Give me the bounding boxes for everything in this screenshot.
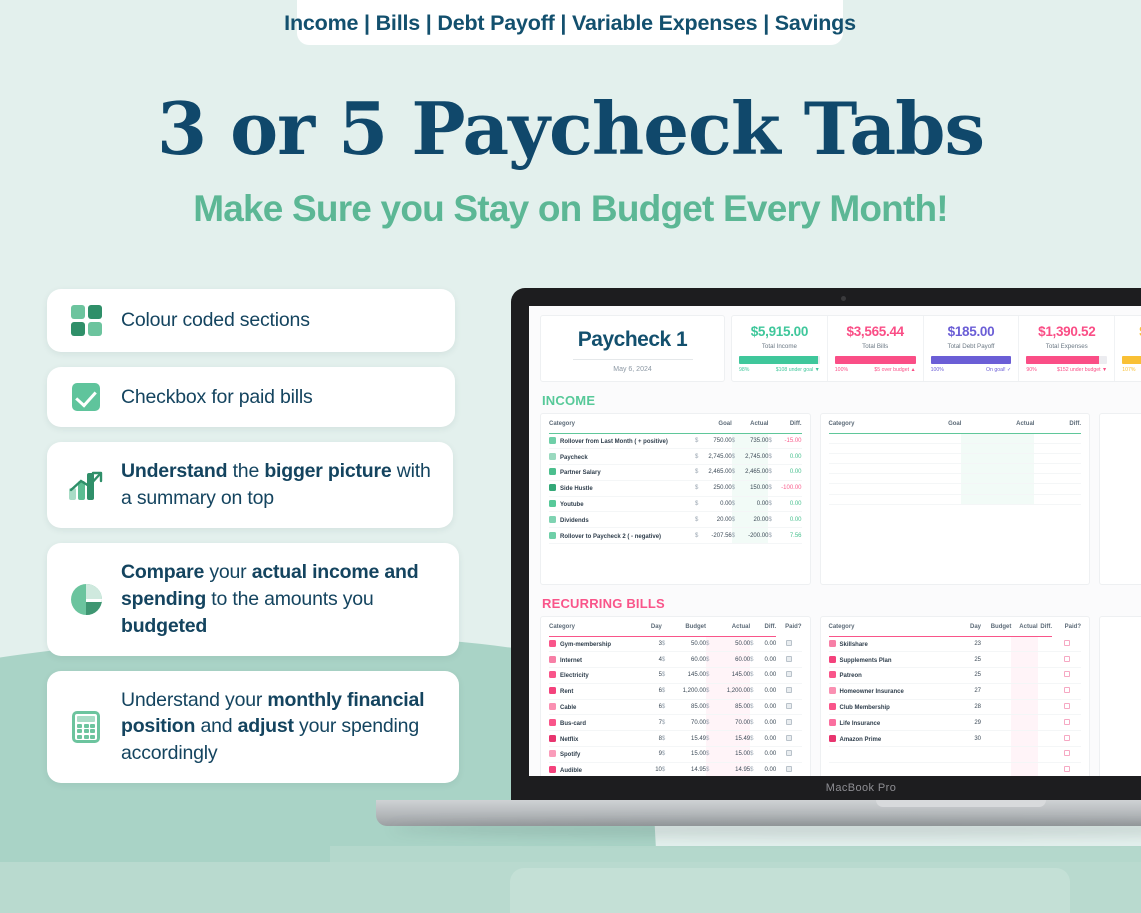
cell-diff: 0.00 (758, 636, 776, 652)
cell-actual (1019, 668, 1037, 684)
kpi-percent: 107% (1122, 367, 1135, 373)
cell-actual: 145.00 (714, 668, 750, 684)
kpi-card: $1,390.52Total Expenses90%$152 under bud… (1019, 316, 1115, 381)
cell-diff: 0.00 (758, 668, 776, 684)
feature-card-list: Colour coded sections Checkbox for paid … (47, 289, 467, 798)
page-subtitle: Make Sure you Stay on Budget Every Month… (0, 188, 1141, 230)
feature-card: Colour coded sections (47, 289, 455, 352)
cell-budget: 50.00 (670, 636, 706, 652)
cell-day: 25 (962, 652, 981, 668)
kpi-card: $5,915.00Total Income98%$108 under goal … (732, 316, 828, 381)
income-table-panel-2: CategoryGoalActualDiff. (820, 413, 1091, 585)
cell-diff: -100.00 (776, 480, 801, 496)
bills-table-left: CategoryDayBudgetActualDiff.Paid? Gym-me… (549, 624, 802, 776)
cell-category: Audible (549, 762, 645, 776)
kpi-list: $5,915.00Total Income98%$108 under goal … (731, 315, 1141, 382)
table-row[interactable] (829, 464, 1082, 474)
cell-paid-checkbox[interactable] (1052, 683, 1081, 699)
column-header: Paid? (1052, 624, 1081, 635)
table-row[interactable] (829, 494, 1082, 504)
column-header: Category (549, 624, 645, 635)
cell-actual: 70.00 (714, 715, 750, 731)
cell-day: 8 (645, 731, 662, 747)
cell-budget: 1,200.00 (670, 683, 706, 699)
cell-category: Gym-membership (549, 636, 645, 652)
column-header: Actual (732, 421, 769, 432)
table-row[interactable] (829, 443, 1082, 453)
table-row[interactable] (829, 746, 1082, 762)
cell-budget (989, 683, 1011, 699)
table-row[interactable]: Rollover from Last Month ( + positive)$7… (549, 433, 802, 449)
kpi-card: $774.00Total Savings107%$49 over goal ▲ (1115, 316, 1141, 381)
cell-actual: 2,745.00 (740, 449, 769, 465)
table-row[interactable] (829, 762, 1082, 776)
table-row[interactable]: Rollover to Paycheck 2 ( - negative)$-20… (549, 528, 802, 544)
bills-table-right: CategoryDayBudgetActualDiff.Paid? Skills… (829, 624, 1082, 776)
kpi-percent: 100% (835, 367, 848, 373)
paycheck-card: Paycheck 1 May 6, 2024 (540, 315, 725, 382)
column-header: Day (645, 624, 662, 635)
column-header: Diff. (768, 421, 801, 432)
cell-day: 25 (962, 668, 981, 684)
section-header-bills: RECURRING BILLS (542, 596, 1141, 611)
cell-budget (989, 699, 1011, 715)
cell-goal: 250.00 (703, 480, 732, 496)
column-header: Actual (1011, 624, 1037, 635)
kpi-percent: 100% (931, 367, 944, 373)
kpi-note: $152 under budget ▼ (1057, 367, 1107, 373)
cell-budget (989, 731, 1011, 747)
paycheck-title: Paycheck 1 (541, 328, 724, 352)
cell-category: Dividends (549, 512, 695, 528)
table-row[interactable]: Paycheck$2,745.00$2,745.00$0.00 (549, 449, 802, 465)
cell-paid-checkbox[interactable] (1052, 731, 1081, 747)
kpi-progress-bar (1122, 356, 1141, 364)
cell-paid-checkbox[interactable] (776, 699, 801, 715)
table-row[interactable] (829, 453, 1082, 463)
cell-actual: 15.49 (714, 731, 750, 747)
table-row[interactable] (829, 433, 1082, 443)
cell-actual (1019, 715, 1037, 731)
cell-diff: 0.00 (776, 449, 801, 465)
cell-category: Rollover to Paycheck 2 ( - negative) (549, 528, 695, 544)
cell-diff: 0.00 (758, 652, 776, 668)
cell-actual: 85.00 (714, 699, 750, 715)
feature-card: Understand the bigger picture with a sum… (47, 442, 453, 528)
cell-paid-checkbox[interactable] (776, 636, 801, 652)
kpi-note: $5 over budget ▲ (874, 367, 915, 373)
camera-icon (841, 296, 846, 301)
feature-card: Understand your monthly financial positi… (47, 671, 459, 784)
checkbox-icon (65, 383, 107, 411)
laptop-mockup: Paycheck 1 May 6, 2024 $5,915.00Total In… (511, 288, 1141, 818)
cell-category: Youtube (549, 496, 695, 512)
column-header: Actual (961, 421, 1034, 432)
kpi-percent: 90% (1026, 367, 1036, 373)
cell-actual: 20.00 (740, 512, 769, 528)
background-soft-rect (510, 868, 1070, 913)
cell-actual (1019, 636, 1037, 652)
cell-budget (989, 636, 1011, 652)
laptop-bezel: Paycheck 1 May 6, 2024 $5,915.00Total In… (511, 288, 1141, 800)
cell-paid-checkbox[interactable] (776, 652, 801, 668)
cell-actual (1019, 699, 1037, 715)
kpi-note: $108 under goal ▼ (776, 367, 820, 373)
kpi-label: Total Debt Payoff (947, 343, 994, 350)
table-row[interactable]: Club Membership28 (829, 699, 1082, 715)
cell-paid-checkbox[interactable] (776, 683, 801, 699)
kpi-value: $1,390.52 (1038, 324, 1095, 339)
cell-budget (989, 715, 1011, 731)
cell-budget: 60.00 (670, 652, 706, 668)
feature-card-text: Checkbox for paid bills (121, 384, 313, 411)
cell-budget (989, 668, 1011, 684)
table-row[interactable] (829, 474, 1082, 484)
table-row[interactable]: Supplements Plan25 (829, 652, 1082, 668)
laptop-model-label: MacBook Pro (511, 782, 1141, 794)
kpi-progress-bar (1026, 356, 1107, 364)
cell-day: 6 (645, 699, 662, 715)
cell-day: 29 (962, 715, 981, 731)
cell-actual: 60.00 (714, 652, 750, 668)
cell-paid-checkbox[interactable] (776, 746, 801, 762)
feature-card: Compare your actual income and spending … (47, 543, 459, 656)
column-header: Category (829, 624, 962, 635)
cell-day: 27 (962, 683, 981, 699)
cell-paid-checkbox[interactable] (1052, 668, 1081, 684)
cell-diff: -15.00 (776, 433, 801, 449)
summary-strip: Paycheck 1 May 6, 2024 $5,915.00Total In… (540, 315, 1141, 382)
income-table-panel: CategoryGoalActualDiff. Rollover from La… (540, 413, 811, 585)
calculator-icon (65, 711, 107, 743)
cell-day: 6 (645, 683, 662, 699)
cell-actual: 1,200.00 (714, 683, 750, 699)
table-row[interactable]: Skillshare23 (829, 636, 1082, 652)
cell-actual (1019, 652, 1037, 668)
colour-grid-icon (65, 305, 107, 336)
cell-actual (1019, 731, 1037, 747)
cell-day: 28 (962, 699, 981, 715)
page-title: 3 or 5 Paycheck Tabs (0, 86, 1141, 171)
cell-category: Club Membership (829, 699, 962, 715)
cell-actual: 735.00 (740, 433, 769, 449)
table-row[interactable]: Spotify9$15.00$15.00$0.00 (549, 746, 802, 762)
cell-budget: 85.00 (670, 699, 706, 715)
table-row[interactable]: Cable6$85.00$85.00$0.00 (549, 699, 802, 715)
cell-budget: 14.95 (670, 762, 706, 776)
promo-page: Income | Bills | Debt Payoff | Variable … (0, 0, 1141, 913)
cell-diff: 0.00 (776, 496, 801, 512)
table-row[interactable]: Life Insurance29 (829, 715, 1082, 731)
cell-category: Spotify (549, 746, 645, 762)
kpi-note: On goal! ✓ (986, 367, 1011, 373)
cell-day: 4 (645, 652, 662, 668)
bar-chart-up-icon (65, 470, 107, 500)
cell-paid-checkbox[interactable] (1052, 762, 1081, 776)
table-row[interactable]: Amazon Prime30 (829, 731, 1082, 747)
cell-diff: 0.00 (776, 465, 801, 481)
table-row[interactable]: Partner Salary$2,465.00$2,465.00$0.00 (549, 465, 802, 481)
cell-diff: 0.00 (776, 512, 801, 528)
cell-budget (989, 652, 1011, 668)
cell-paid-checkbox[interactable] (776, 762, 801, 776)
cell-goal: 2,465.00 (703, 465, 732, 481)
cell-category: Rollover from Last Month ( + positive) (549, 433, 695, 449)
cell-category: Rent (549, 683, 645, 699)
cell-goal: 2,745.00 (703, 449, 732, 465)
cell-category: Electricity (549, 668, 645, 684)
cell-paid-checkbox[interactable] (776, 668, 801, 684)
cell-day: 7 (645, 715, 662, 731)
table-row[interactable] (829, 484, 1082, 494)
feature-card-text: Compare your actual income and spending … (121, 559, 441, 640)
kpi-value: $185.00 (948, 324, 995, 339)
cell-category: Netflix (549, 731, 645, 747)
cell-paid-checkbox[interactable] (776, 715, 801, 731)
income-table-panel-3 (1099, 413, 1141, 585)
cell-category: Partner Salary (549, 465, 695, 481)
cell-goal: 750.00 (703, 433, 732, 449)
column-header: Category (829, 421, 933, 432)
cell-diff: 0.00 (758, 715, 776, 731)
cell-budget: 70.00 (670, 715, 706, 731)
table-row[interactable]: Homeowner Insurance27 (829, 683, 1082, 699)
cell-category: Amazon Prime (829, 731, 962, 747)
kpi-value: $3,565.44 (847, 324, 904, 339)
cell-budget: 15.49 (670, 731, 706, 747)
table-row[interactable]: Rent6$1,200.00$1,200.00$0.00 (549, 683, 802, 699)
column-header: Diff. (1038, 624, 1052, 635)
kpi-progress-bar (739, 356, 820, 364)
cell-paid-checkbox[interactable] (1052, 636, 1081, 652)
cell-paid-checkbox[interactable] (1052, 715, 1081, 731)
kpi-value: $5,915.00 (751, 324, 808, 339)
income-table-empty: CategoryGoalActualDiff. (829, 421, 1082, 505)
column-header: Category (549, 421, 695, 432)
cell-paid-checkbox[interactable] (1052, 699, 1081, 715)
kpi-label: Total Expenses (1046, 343, 1088, 350)
cell-actual (1019, 683, 1037, 699)
table-row[interactable]: Audible10$14.95$14.95$0.00 (549, 762, 802, 776)
feature-card-text: Colour coded sections (121, 307, 310, 334)
income-table: CategoryGoalActualDiff. Rollover from La… (549, 421, 802, 544)
cell-actual: 150.00 (740, 480, 769, 496)
cell-category: Life Insurance (829, 715, 962, 731)
cell-goal: 0.00 (703, 496, 732, 512)
column-header: Budget (662, 624, 706, 635)
cell-actual: 0.00 (740, 496, 769, 512)
cell-day: 5 (645, 668, 662, 684)
kpi-label: Total Income (762, 343, 797, 350)
cell-diff: 0.00 (758, 731, 776, 747)
cell-day: 10 (645, 762, 662, 776)
cell-diff: 0.00 (758, 762, 776, 776)
cell-category: Side Hustle (549, 480, 695, 496)
cell-actual: 2,465.00 (740, 465, 769, 481)
cell-category: Bus-card (549, 715, 645, 731)
kpi-card: $185.00Total Debt Payoff100%On goal! ✓ (924, 316, 1020, 381)
cell-day: 9 (645, 746, 662, 762)
top-banner: Income | Bills | Debt Payoff | Variable … (297, 0, 843, 45)
bills-table-panel-2: CategoryDayBudgetActualDiff.Paid? Skills… (820, 616, 1091, 776)
spreadsheet-screen[interactable]: Paycheck 1 May 6, 2024 $5,915.00Total In… (529, 306, 1141, 776)
top-banner-text: Income | Bills | Debt Payoff | Variable … (284, 11, 856, 36)
cell-day: 3 (645, 636, 662, 652)
cell-budget: 145.00 (670, 668, 706, 684)
cell-diff: 7.56 (776, 528, 801, 544)
feature-card-text: Understand your monthly financial positi… (121, 687, 441, 768)
cell-actual: 50.00 (714, 636, 750, 652)
cell-diff: 0.00 (758, 683, 776, 699)
cell-diff: 0.00 (758, 699, 776, 715)
kpi-card: $3,565.44Total Bills100%$5 over budget ▲ (828, 316, 924, 381)
divider (573, 359, 693, 360)
cell-category: Patreon (829, 668, 962, 684)
table-row[interactable]: Side Hustle$250.00$150.00$-100.00 (549, 480, 802, 496)
column-header: Goal (932, 421, 961, 432)
cell-paid-checkbox[interactable] (1052, 746, 1081, 762)
column-header: Day (962, 624, 981, 635)
column-header: Paid? (776, 624, 801, 635)
cell-category: Supplements Plan (829, 652, 962, 668)
cell-goal: -207.56 (703, 528, 732, 544)
laptop-notch (876, 800, 1046, 807)
column-header: Diff. (1034, 421, 1081, 432)
bills-table-panel-3 (1099, 616, 1141, 776)
table-row[interactable]: Netflix8$15.49$15.49$0.00 (549, 731, 802, 747)
feature-card: Checkbox for paid bills (47, 367, 455, 427)
cell-actual: 14.95 (714, 762, 750, 776)
cell-paid-checkbox[interactable] (1052, 652, 1081, 668)
column-header: Goal (695, 421, 732, 432)
cell-category: Internet (549, 652, 645, 668)
kpi-progress-bar (931, 356, 1012, 364)
column-header: Actual (706, 624, 750, 635)
cell-category: Cable (549, 699, 645, 715)
column-header: Diff. (750, 624, 776, 635)
cell-budget: 15.00 (670, 746, 706, 762)
table-row[interactable]: Bus-card7$70.00$70.00$0.00 (549, 715, 802, 731)
cell-category: Paycheck (549, 449, 695, 465)
pie-chart-icon (65, 584, 107, 615)
cell-goal: 20.00 (703, 512, 732, 528)
table-row[interactable]: Youtube$0.00$0.00$0.00 (549, 496, 802, 512)
cell-day: 30 (962, 731, 981, 747)
table-row[interactable]: Dividends$20.00$20.00$0.00 (549, 512, 802, 528)
paycheck-date: May 6, 2024 (541, 366, 724, 373)
feature-card-text: Understand the bigger picture with a sum… (121, 458, 435, 512)
cell-day: 23 (962, 636, 981, 652)
table-row[interactable]: Internet4$60.00$60.00$0.00 (549, 652, 802, 668)
cell-diff: 0.00 (758, 746, 776, 762)
kpi-progress-bar (835, 356, 916, 364)
table-row[interactable]: Electricity5$145.00$145.00$0.00 (549, 668, 802, 684)
column-header: Budget (981, 624, 1011, 635)
table-row[interactable]: Patreon25 (829, 668, 1082, 684)
kpi-percent: 98% (739, 367, 749, 373)
cell-category: Skillshare (829, 636, 962, 652)
cell-paid-checkbox[interactable] (776, 731, 801, 747)
section-header-income: INCOME (542, 393, 1141, 408)
cell-actual: 15.00 (714, 746, 750, 762)
cell-category: Homeowner Insurance (829, 683, 962, 699)
table-row[interactable]: Gym-membership3$50.00$50.00$0.00 (549, 636, 802, 652)
bills-table-panel: CategoryDayBudgetActualDiff.Paid? Gym-me… (540, 616, 811, 776)
cell-actual: -200.00 (740, 528, 769, 544)
kpi-label: Total Bills (862, 343, 888, 350)
